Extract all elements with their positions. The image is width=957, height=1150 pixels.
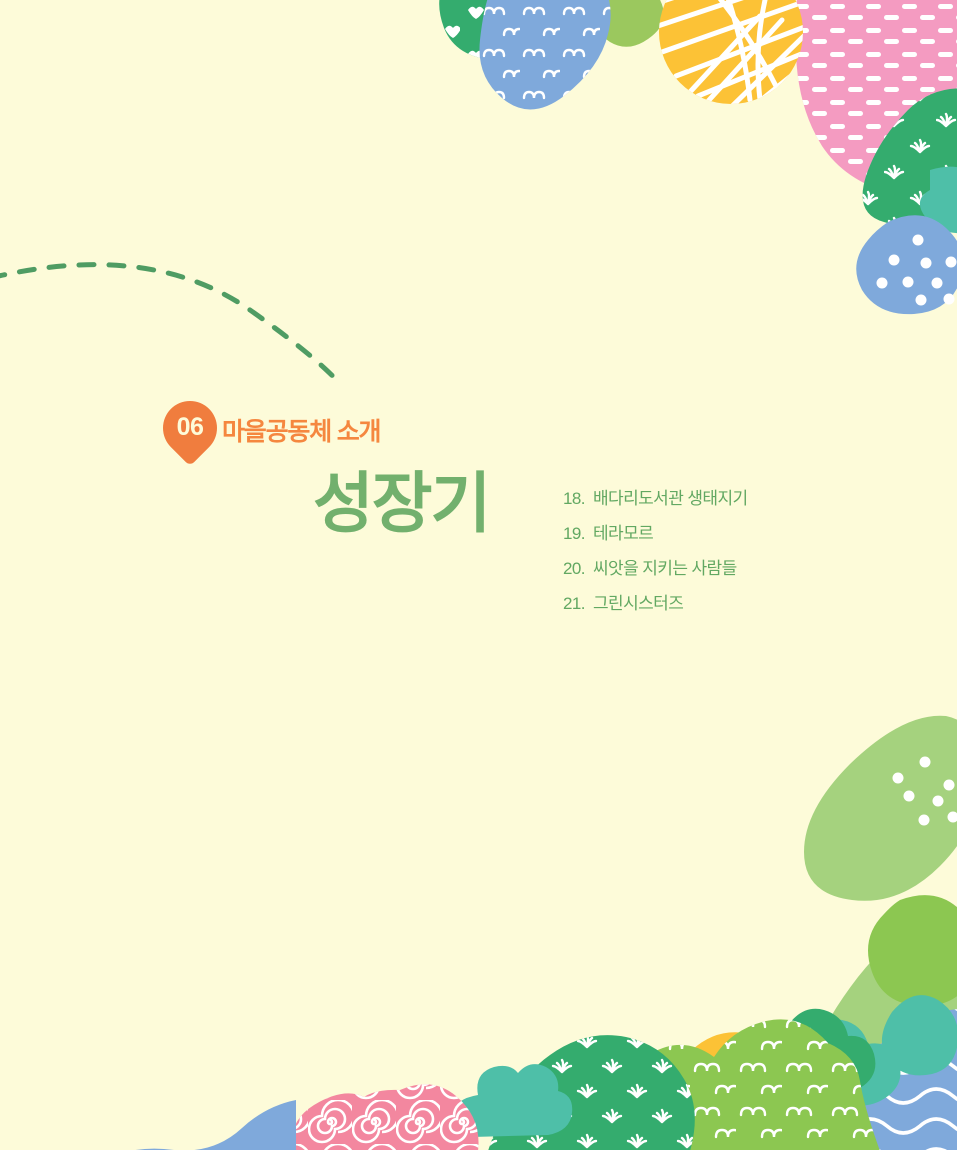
list-item[interactable]: 19. 테라모르: [563, 519, 903, 554]
page-title: 성장기: [313, 470, 489, 536]
poster-page: 06 마을공동체 소개 성장기 18. 배다리도서관 생태지기 19. 테라모르…: [0, 0, 957, 1150]
toc-item-number: 20.: [563, 559, 593, 579]
section-header: 06 마을공동체 소개: [163, 402, 380, 460]
toc-item-number: 21.: [563, 594, 593, 614]
toc-item-number: 18.: [563, 489, 593, 509]
toc-item-title: 그린시스터즈: [593, 589, 903, 614]
toc-item-title: 테라모르: [593, 519, 903, 544]
content-layer: 06 마을공동체 소개 성장기 18. 배다리도서관 생태지기 19. 테라모르…: [0, 0, 957, 1150]
list-item[interactable]: 21. 그린시스터즈: [563, 589, 903, 624]
toc-item-title: 배다리도서관 생태지기: [593, 484, 903, 509]
toc-item-number: 19.: [563, 524, 593, 544]
table-of-contents: 18. 배다리도서관 생태지기 19. 테라모르 20. 씨앗을 지키는 사람들…: [563, 484, 903, 624]
list-item[interactable]: 20. 씨앗을 지키는 사람들: [563, 554, 903, 589]
section-number-pin: 06: [163, 401, 217, 461]
list-item[interactable]: 18. 배다리도서관 생태지기: [563, 484, 903, 519]
toc-item-title: 씨앗을 지키는 사람들: [593, 554, 903, 579]
section-label: 마을공동체 소개: [222, 412, 380, 448]
section-number: 06: [163, 401, 217, 453]
